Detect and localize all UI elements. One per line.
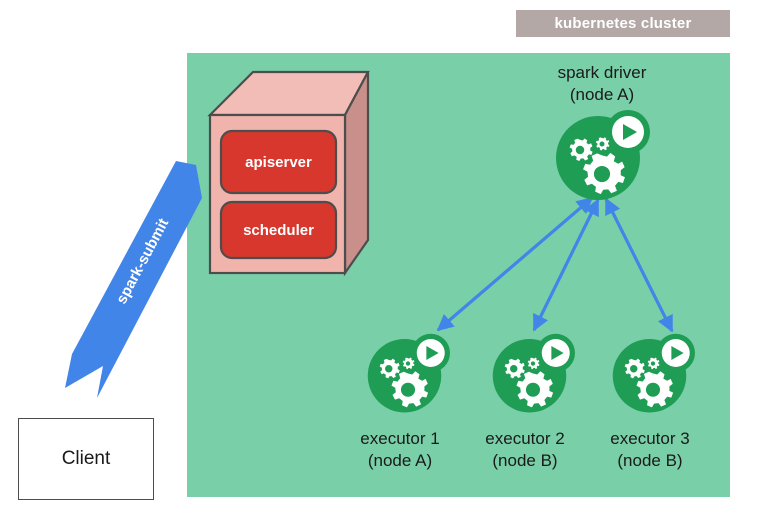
control-plane-box: apiserver scheduler [205,70,375,285]
kubernetes-cluster-badge: kubernetes cluster [516,10,730,37]
play-icon [612,116,644,148]
play-icon [662,339,690,367]
spark-executor-1-label: executor 1 (node A) [330,428,470,473]
client-box[interactable]: Client [18,418,154,500]
scheduler-chip[interactable] [221,202,336,258]
diagram-canvas: kubernetes cluster apiserver scheduler s… [0,0,761,516]
box-top-face [210,72,368,115]
apiserver-chip[interactable] [221,131,336,193]
spark-executor-3-label: executor 3 (node B) [580,428,720,473]
play-icon [417,339,445,367]
spark-executor-1-node[interactable] [358,332,458,416]
play-icon [542,339,570,367]
spark-driver-node[interactable] [552,108,652,204]
spark-executor-2-label: executor 2 (node B) [455,428,595,473]
spark-executor-3-node[interactable] [603,332,703,416]
spark-driver-label: spark driver (node A) [512,62,692,107]
control-plane-box-shape [205,70,375,285]
spark-executor-2-node[interactable] [483,332,583,416]
